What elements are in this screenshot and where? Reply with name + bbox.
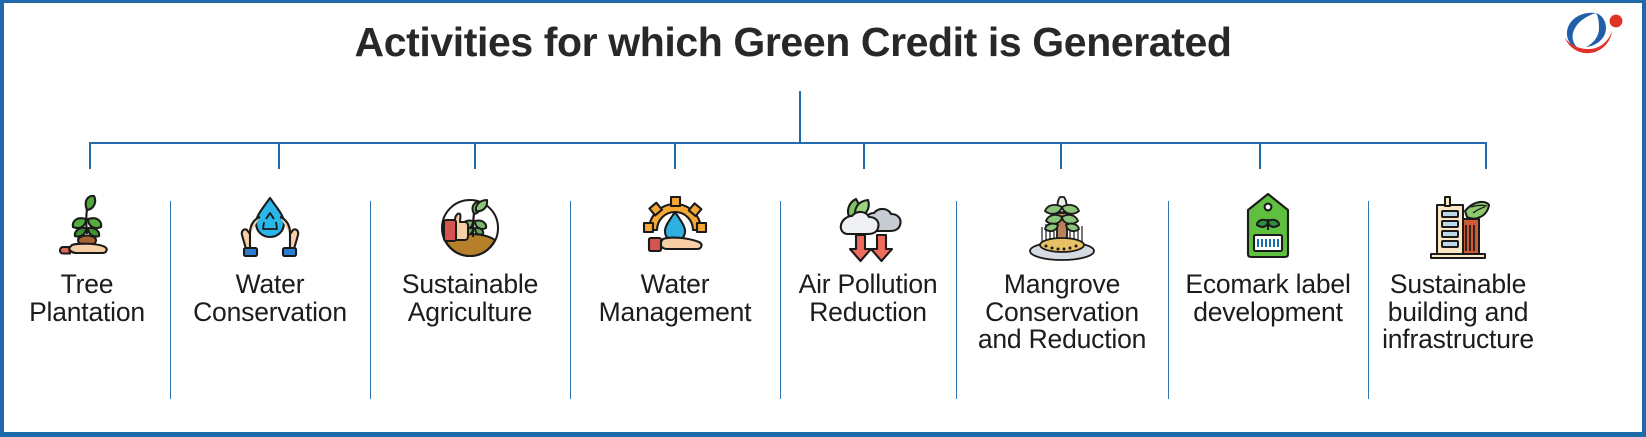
activity-item-mangrove-conservation[interactable]: Mangrove Conservation and Reduction [956,185,1168,354]
activity-label: Air Pollution Reduction [799,271,938,326]
connector-stub-0 [89,143,91,169]
activity-label: Sustainable Agriculture [402,271,538,326]
activity-label: Water Management [599,271,752,326]
connector-stub-7 [1485,143,1487,169]
connector-stub-2 [474,143,476,169]
label-line: Air Pollution [799,271,938,299]
connector-stem [799,91,801,144]
label-line: Mangrove [978,271,1146,299]
connector-stub-6 [1259,143,1261,169]
buildings-leaf-icon [1421,185,1495,269]
page-title: Activities for which Green Credit is Gen… [4,19,1642,66]
activity-item-air-pollution-reduction[interactable]: Air Pollution Reduction [780,185,956,326]
thumbs-up-plant-soil-circle-icon [429,185,511,269]
activity-label: Mangrove Conservation and Reduction [978,271,1146,354]
activity-item-water-management[interactable]: Water Management [570,185,780,326]
connector-horizontal [89,142,1487,144]
mangrove-tree-icon [1016,185,1108,269]
green-tag-leaf-barcode-icon [1238,185,1298,269]
label-line: Conservation [978,299,1146,327]
label-line: infrastructure [1382,326,1534,354]
activity-item-sustainable-agriculture[interactable]: Sustainable Agriculture [370,185,570,326]
infographic-canvas: Activities for which Green Credit is Gen… [0,0,1646,437]
activity-item-water-conservation[interactable]: Water Conservation [170,185,370,326]
label-line: Ecomark label [1185,271,1350,299]
activity-item-tree-plantation[interactable]: Tree Plantation [4,185,170,326]
label-line: and Reduction [978,326,1146,354]
activity-item-ecomark-label-development[interactable]: Ecomark label development [1168,185,1368,326]
connector-stub-1 [278,143,280,169]
gear-water-droplet-hand-icon [633,185,717,269]
activity-label: Sustainable building and infrastructure [1382,271,1534,354]
label-line: Water [193,271,347,299]
label-line: development [1185,299,1350,327]
label-line: Tree [29,271,145,299]
connector-stub-5 [1060,143,1062,169]
activity-item-sustainable-building[interactable]: Sustainable building and infrastructure [1368,185,1548,354]
hands-water-droplet-recycle-icon [230,185,310,269]
cloud-leaves-down-arrows-icon [826,185,910,269]
label-line: Reduction [799,299,938,327]
activity-label: Ecomark label development [1185,271,1350,326]
label-line: Agriculture [402,299,538,327]
brand-logo [1552,7,1626,57]
label-line: Sustainable [1382,271,1534,299]
hand-holding-seedling-icon [50,185,124,269]
label-line: Water [599,271,752,299]
label-line: Management [599,299,752,327]
activity-label: Tree Plantation [29,271,145,326]
label-line: Sustainable [402,271,538,299]
activity-label: Water Conservation [193,271,347,326]
activities-row: Tree Plantation [4,185,1646,385]
label-line: Conservation [193,299,347,327]
connector-stub-4 [863,143,865,169]
connector-stub-3 [674,143,676,169]
label-line: building and [1382,299,1534,327]
label-line: Plantation [29,299,145,327]
